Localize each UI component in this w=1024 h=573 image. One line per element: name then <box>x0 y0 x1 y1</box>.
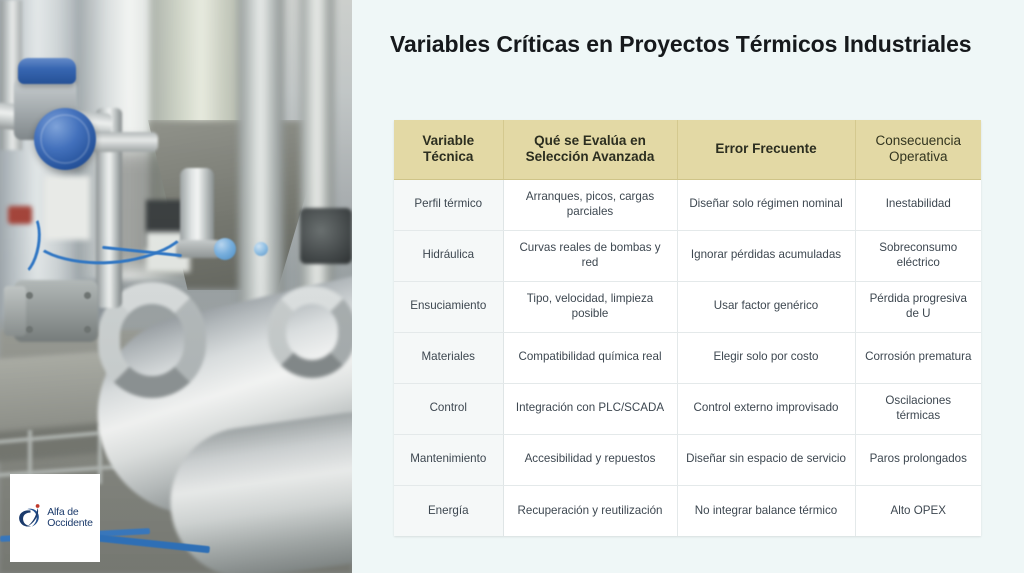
table-row: Perfil térmico Arranques, picos, cargas … <box>394 179 981 230</box>
cell-error: Usar factor genérico <box>677 281 855 332</box>
logo-card: Alfa de Occidente <box>10 474 100 562</box>
table-row: Mantenimiento Accesibilidad y repuestos … <box>394 434 981 485</box>
cell-error: Elegir solo por costo <box>677 332 855 383</box>
cell-variable: Control <box>394 383 503 434</box>
cell-error: Diseñar sin espacio de servicio <box>677 434 855 485</box>
cell-consecuencia: Inestabilidad <box>855 179 981 230</box>
table-body: Perfil térmico Arranques, picos, cargas … <box>394 179 981 536</box>
cell-evaluacion: Compatibilidad química real <box>503 332 677 383</box>
cell-consecuencia: Sobreconsumo eléctrico <box>855 230 981 281</box>
variables-table-wrapper: Variable Técnica Qué se Evalúa en Selecc… <box>394 120 981 536</box>
cell-variable: Hidráulica <box>394 230 503 281</box>
variables-table: Variable Técnica Qué se Evalúa en Selecc… <box>394 120 981 536</box>
logo: Alfa de Occidente <box>17 503 92 533</box>
cell-variable: Ensuciamiento <box>394 281 503 332</box>
slide-canvas: Alfa de Occidente Variables Críticas en … <box>0 0 1024 573</box>
cell-error: No integrar balance térmico <box>677 485 855 536</box>
cell-error: Ignorar pérdidas acumuladas <box>677 230 855 281</box>
cell-error: Diseñar solo régimen nominal <box>677 179 855 230</box>
cell-variable: Materiales <box>394 332 503 383</box>
table-header-row: Variable Técnica Qué se Evalúa en Selecc… <box>394 120 981 179</box>
table-row: Hidráulica Curvas reales de bombas y red… <box>394 230 981 281</box>
table-header: Variable Técnica Qué se Evalúa en Selecc… <box>394 120 981 179</box>
cell-consecuencia: Alto OPEX <box>855 485 981 536</box>
logo-wordmark: Alfa de Occidente <box>47 507 92 530</box>
table-row: Control Integración con PLC/SCADA Contro… <box>394 383 981 434</box>
cell-variable: Mantenimiento <box>394 434 503 485</box>
alfa-swoosh-icon <box>17 503 45 533</box>
cell-error: Control externo improvisado <box>677 383 855 434</box>
cell-evaluacion: Arranques, picos, cargas parciales <box>503 179 677 230</box>
page-title: Variables Críticas en Proyectos Térmicos… <box>390 30 990 58</box>
column-header-variable-tecnica: Variable Técnica <box>394 120 503 179</box>
table-row: Energía Recuperación y reutilización No … <box>394 485 981 536</box>
column-header-error-frecuente: Error Frecuente <box>677 120 855 179</box>
cell-variable: Energía <box>394 485 503 536</box>
cell-evaluacion: Recuperación y reutilización <box>503 485 677 536</box>
cell-consecuencia: Pérdida progresiva de U <box>855 281 981 332</box>
table-row: Ensuciamiento Tipo, velocidad, limpieza … <box>394 281 981 332</box>
logo-line-2: Occidente <box>47 518 92 530</box>
cell-consecuencia: Corrosión prematura <box>855 332 981 383</box>
cell-evaluacion: Integración con PLC/SCADA <box>503 383 677 434</box>
table-row: Materiales Compatibilidad química real E… <box>394 332 981 383</box>
cell-consecuencia: Paros prolongados <box>855 434 981 485</box>
content-panel: Variables Críticas en Proyectos Térmicos… <box>352 0 1024 573</box>
cell-consecuencia: Oscilaciones térmicas <box>855 383 981 434</box>
cell-evaluacion: Curvas reales de bombas y red <box>503 230 677 281</box>
cell-variable: Perfil térmico <box>394 179 503 230</box>
cell-evaluacion: Accesibilidad y repuestos <box>503 434 677 485</box>
column-header-consecuencia-operativa: Consecuencia Operativa <box>855 120 981 179</box>
column-header-que-se-evalua: Qué se Evalúa en Selección Avanzada <box>503 120 677 179</box>
cell-evaluacion: Tipo, velocidad, limpieza posible <box>503 281 677 332</box>
